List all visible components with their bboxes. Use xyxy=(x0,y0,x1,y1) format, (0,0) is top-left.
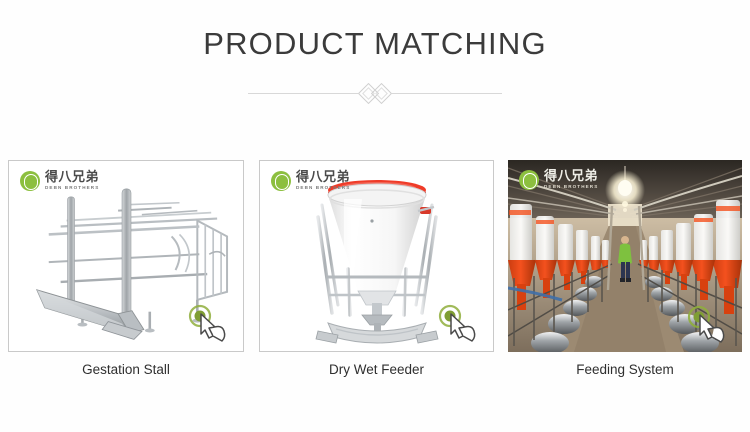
divider-line-right xyxy=(392,93,502,94)
dry-wet-feeder-illustration xyxy=(292,173,462,349)
product-card-gestation-stall[interactable]: 得八兄弟 DEBN BROTHERS xyxy=(8,160,244,352)
product-card-feeding-system[interactable]: 得八兄弟 DEBN BROTHERS xyxy=(508,160,742,352)
brand-logo: 得八兄弟 DEBN BROTHERS xyxy=(20,171,99,191)
cb-monogram-circle-icon xyxy=(519,170,539,190)
brand-name-cn: 得八兄弟 xyxy=(45,171,99,184)
product-card-row: 得八兄弟 DEBN BROTHERS xyxy=(0,160,750,352)
hand-pointer-tap-icon[interactable] xyxy=(437,303,483,343)
page-header: PRODUCT MATCHING xyxy=(0,0,750,150)
cb-monogram-circle-icon xyxy=(20,171,40,191)
divider-line-left xyxy=(248,93,358,94)
product-card-dry-wet-feeder[interactable]: 得八兄弟 DEBN BROTHERS xyxy=(259,160,494,352)
page-title: PRODUCT MATCHING xyxy=(0,26,750,62)
brand-name-cn: 得八兄弟 xyxy=(544,170,598,183)
brand-name-en: DEBN BROTHERS xyxy=(296,186,350,191)
caption-gestation-stall: Gestation Stall xyxy=(8,362,244,377)
double-diamond-ornament-icon xyxy=(360,85,390,102)
hand-pointer-tap-icon[interactable] xyxy=(686,304,732,344)
ornamental-divider xyxy=(0,80,750,106)
brand-logo: 得八兄弟 DEBN BROTHERS xyxy=(519,170,598,190)
caption-dry-wet-feeder: Dry Wet Feeder xyxy=(259,362,494,377)
diamond-right xyxy=(373,85,390,102)
caption-row: Gestation Stall Dry Wet Feeder Feeding S… xyxy=(0,362,750,392)
brand-name-cn: 得八兄弟 xyxy=(296,171,350,184)
hand-pointer-tap-icon[interactable] xyxy=(187,303,233,343)
product-matching-page: PRODUCT MATCHING xyxy=(0,0,750,432)
brand-name-en: DEBN BROTHERS xyxy=(45,186,99,191)
cb-monogram-circle-icon xyxy=(271,171,291,191)
caption-feeding-system: Feeding System xyxy=(508,362,742,377)
brand-logo: 得八兄弟 DEBN BROTHERS xyxy=(271,171,350,191)
brand-name-en: DEBN BROTHERS xyxy=(544,185,598,190)
